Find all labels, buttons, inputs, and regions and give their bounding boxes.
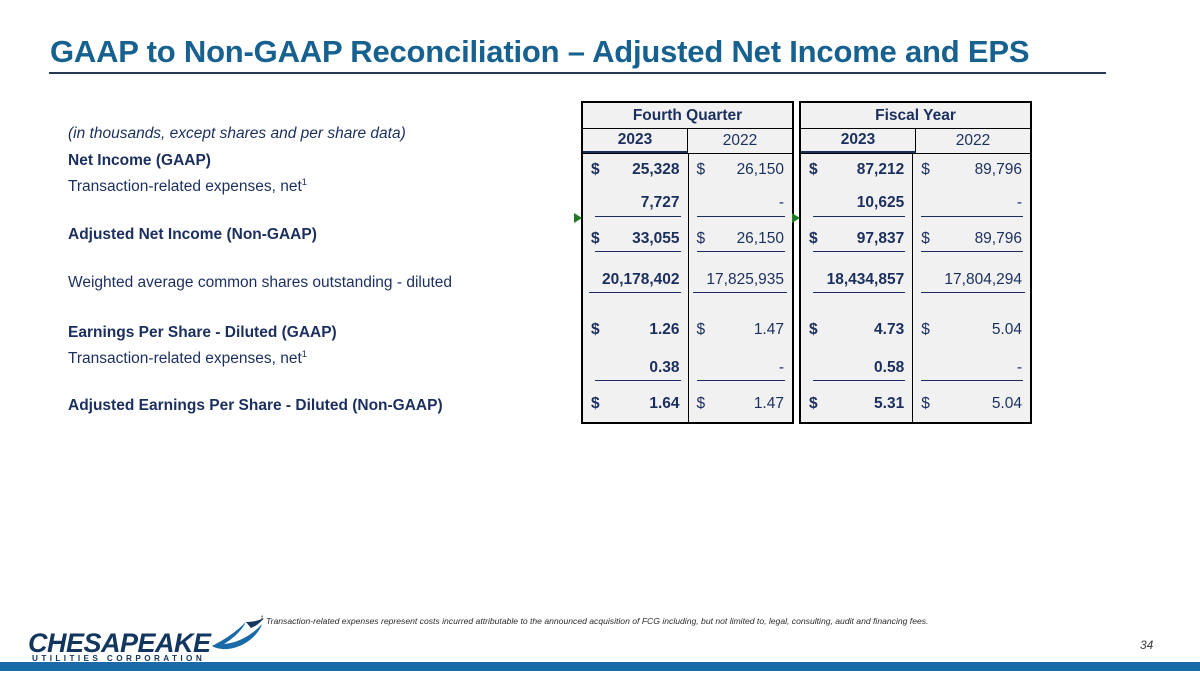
cell-q23-eps-txn: 0.38 [583,356,688,380]
units-note: (in thousands, except shares and per sha… [68,126,406,142]
row-label-transaction-expenses-eps: Transaction-related expenses, net1 [68,351,307,367]
shares-rule [813,292,905,293]
cell-y22-weighted-shares: 17,804,294 [913,268,1030,292]
footnote-text: Transaction-related expenses represent c… [264,616,929,626]
row-label-eps-diluted: Earnings Per Share - Diluted (GAAP) [68,325,337,341]
table-body-y: $87,212 10,625 $97,837 18,434,857 $4.73 … [801,154,1030,424]
column-y-2023: $87,212 10,625 $97,837 18,434,857 $4.73 … [801,154,913,424]
cell-y23-eps-txn: 0.58 [801,356,912,380]
footer-bar [0,662,1200,671]
change-marker-icon [574,213,582,223]
total-rule [921,251,1023,252]
shares-rule [589,292,681,293]
cell-y23-txn-expense: 10,625 [801,191,912,215]
cell-q22-adj-net-income: $26,150 [689,227,792,251]
cell-y23-eps: $4.73 [801,318,912,342]
column-header-y-2022: 2022 [916,129,1030,153]
year-header-row-q: 2023 2022 [583,129,792,154]
cell-y23-adj-net-income: $97,837 [801,227,912,251]
column-header-q-2023: 2023 [583,129,688,153]
table-body-q: $25,328 7,727 $33,055 20,178,402 $1.26 0… [583,154,792,424]
cell-q23-weighted-shares: 20,178,402 [583,268,688,292]
column-header-q-2022: 2022 [688,129,792,153]
total-rule [697,251,785,252]
eps-subtotal-rule [813,380,905,381]
group-header-fiscal-year: Fiscal Year [801,103,1030,129]
logo-wordmark: CHESAPEAKE [28,630,211,657]
table-fourth-quarter: Fourth Quarter 2023 2022 $25,328 7,727 $… [581,101,794,424]
column-q-2023: $25,328 7,727 $33,055 20,178,402 $1.26 0… [583,154,689,424]
subtotal-rule [813,216,905,217]
cell-q23-net-income: $25,328 [583,158,688,182]
cell-y23-adj-eps: $5.31 [801,392,912,416]
group-header-fourth-quarter: Fourth Quarter [583,103,792,129]
cell-y22-txn-expense: - [913,191,1030,215]
column-q-2022: $26,150 - $26,150 17,825,935 $1.47 - $1.… [689,154,792,424]
eps-subtotal-rule [595,380,681,381]
page-title: GAAP to Non-GAAP Reconciliation – Adjust… [50,34,1029,70]
cell-y22-eps: $5.04 [913,318,1030,342]
footnote: 1 Transaction-related expenses represent… [260,615,1110,627]
slide-canvas: GAAP to Non-GAAP Reconciliation – Adjust… [0,0,1200,675]
column-header-y-2023: 2023 [801,129,916,153]
subtotal-rule [921,216,1023,217]
cell-q22-txn-expense: - [689,191,792,215]
year-header-row-y: 2023 2022 [801,129,1030,154]
page-number: 34 [1140,638,1153,652]
change-marker-icon [792,213,800,223]
cell-y22-net-income: $89,796 [913,158,1030,182]
cell-q23-adj-eps: $1.64 [583,392,688,416]
row-label-adjusted-net-income: Adjusted Net Income (Non-GAAP) [68,227,317,243]
subtotal-rule [595,216,681,217]
column-y-2022: $89,796 - $89,796 17,804,294 $5.04 - $5.… [913,154,1030,424]
cell-y22-eps-txn: - [913,356,1030,380]
bird-swoosh-icon [206,616,266,650]
total-rule [813,251,905,252]
total-rule [595,251,681,252]
footnote-marker: 1 [302,177,307,188]
shares-rule [921,292,1025,293]
eps-subtotal-rule [921,380,1023,381]
table-fiscal-year: Fiscal Year 2023 2022 $87,212 10,625 $97… [799,101,1032,424]
cell-y22-adj-eps: $5.04 [913,392,1030,416]
footnote-marker: 1 [302,349,307,360]
cell-q22-eps: $1.47 [689,318,792,342]
cell-q23-eps: $1.26 [583,318,688,342]
row-label-transaction-expenses-income: Transaction-related expenses, net1 [68,179,307,195]
cell-q23-txn-expense: 7,727 [583,191,688,215]
eps-subtotal-rule [697,380,785,381]
cell-q22-adj-eps: $1.47 [689,392,792,416]
subtotal-rule [697,216,785,217]
row-label-adjusted-eps-diluted: Adjusted Earnings Per Share - Diluted (N… [68,398,443,414]
shares-rule [693,292,787,293]
cell-q22-eps-txn: - [689,356,792,380]
cell-q22-weighted-shares: 17,825,935 [689,268,792,292]
row-label-net-income: Net Income (GAAP) [68,153,211,169]
cell-y23-weighted-shares: 18,434,857 [801,268,912,292]
cell-q22-net-income: $26,150 [689,158,792,182]
cell-y22-adj-net-income: $89,796 [913,227,1030,251]
cell-q23-adj-net-income: $33,055 [583,227,688,251]
cell-y23-net-income: $87,212 [801,158,912,182]
title-divider [49,72,1106,74]
row-label-weighted-shares: Weighted average common shares outstandi… [68,275,452,291]
